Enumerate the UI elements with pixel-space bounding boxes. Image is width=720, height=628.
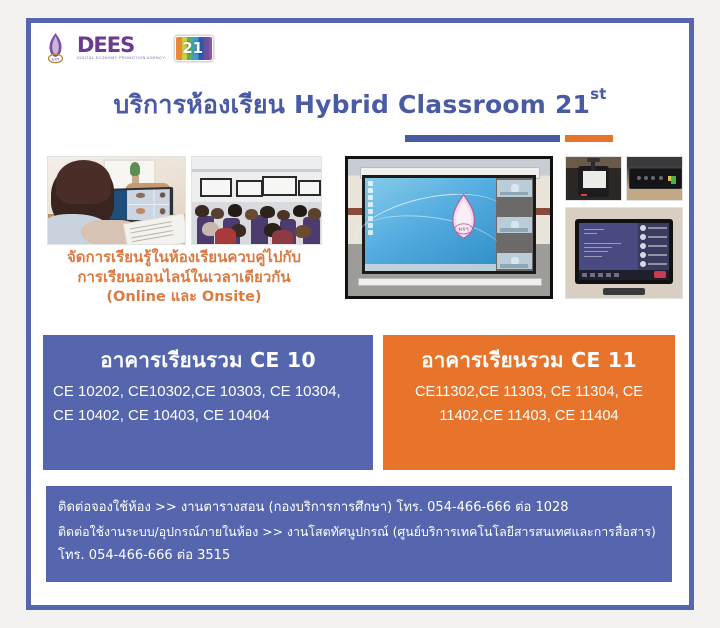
caption-line-3: (Online และ Onsite) [39, 287, 329, 307]
contact-line-support: ติดต่อใช้งานระบบ/อุปกรณ์ภายในห้อง >> งาน… [58, 520, 660, 544]
building-panel-ce11-title: อาคารเรียนรวม CE 11 [393, 344, 665, 377]
poster-body: มจร DEES DIGITAL ECONOMY PROMOTION AGENC… [31, 23, 689, 605]
contact-line-phone: โทร. 054-466-666 ต่อ 3515 [58, 544, 660, 568]
photo-lecture-hall [191, 156, 322, 245]
building-panel-ce11-rooms: CE11302,CE 11303, CE 11304, CE 11402,CE … [393, 380, 665, 428]
photo-visualizer [565, 156, 622, 201]
caption-line-2: การเรียนออนไลน์ในเวลาเดียวกัน [39, 267, 329, 287]
contact-line-booking: ติดต่อจองใช้ห้อง >> งานตารางสอน (กองบริก… [58, 496, 660, 520]
building-panel-ce11: อาคารเรียนรวม CE 11 CE11302,CE 11303, CE… [383, 335, 675, 470]
caption-block: จัดการเรียนรู้ในห้องเรียนควบคู่ไปกับ การ… [39, 247, 329, 307]
photo-projector-screen: มจร [345, 156, 553, 299]
building-panel-ce10: อาคารเรียนรวม CE 10 CE 10202, CE10302,CE… [43, 335, 373, 470]
contact-footer: ติดต่อจองใช้ห้อง >> งานตารางสอน (กองบริก… [43, 483, 675, 585]
building-panel-ce10-rooms: CE 10202, CE10302,CE 10303, CE 10304, CE… [53, 380, 363, 428]
photo-touch-monitor [565, 207, 683, 299]
svg-text:มจร: มจร [458, 227, 469, 232]
photo-online-student [47, 156, 186, 245]
poster-frame: มจร DEES DIGITAL ECONOMY PROMOTION AGENC… [26, 18, 694, 610]
caption-line-1: จัดการเรียนรู้ในห้องเรียนควบคู่ไปกับ [39, 247, 329, 267]
building-panel-ce10-title: อาคารเรียนรวม CE 10 [53, 344, 363, 377]
photo-amplifier [626, 156, 683, 201]
